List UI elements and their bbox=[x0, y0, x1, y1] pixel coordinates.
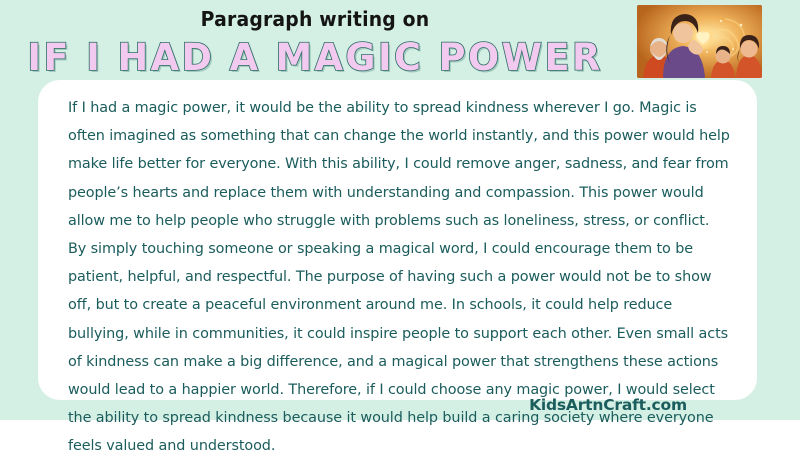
poster-footer: KidsArtnCraft.com bbox=[0, 396, 800, 415]
poster: Paragraph writing on IF I HAD A MAGIC PO… bbox=[0, 0, 800, 420]
illustration-svg bbox=[637, 5, 762, 78]
magic-heart-family-illustration bbox=[637, 5, 762, 78]
kicker-text: Paragraph writing on bbox=[19, 7, 611, 31]
page-title: IF I HAD A MAGIC POWER bbox=[3, 36, 627, 79]
brand-watermark: KidsArtnCraft.com bbox=[529, 396, 687, 414]
paragraph-card: If I had a magic power, it would be the … bbox=[38, 80, 757, 400]
